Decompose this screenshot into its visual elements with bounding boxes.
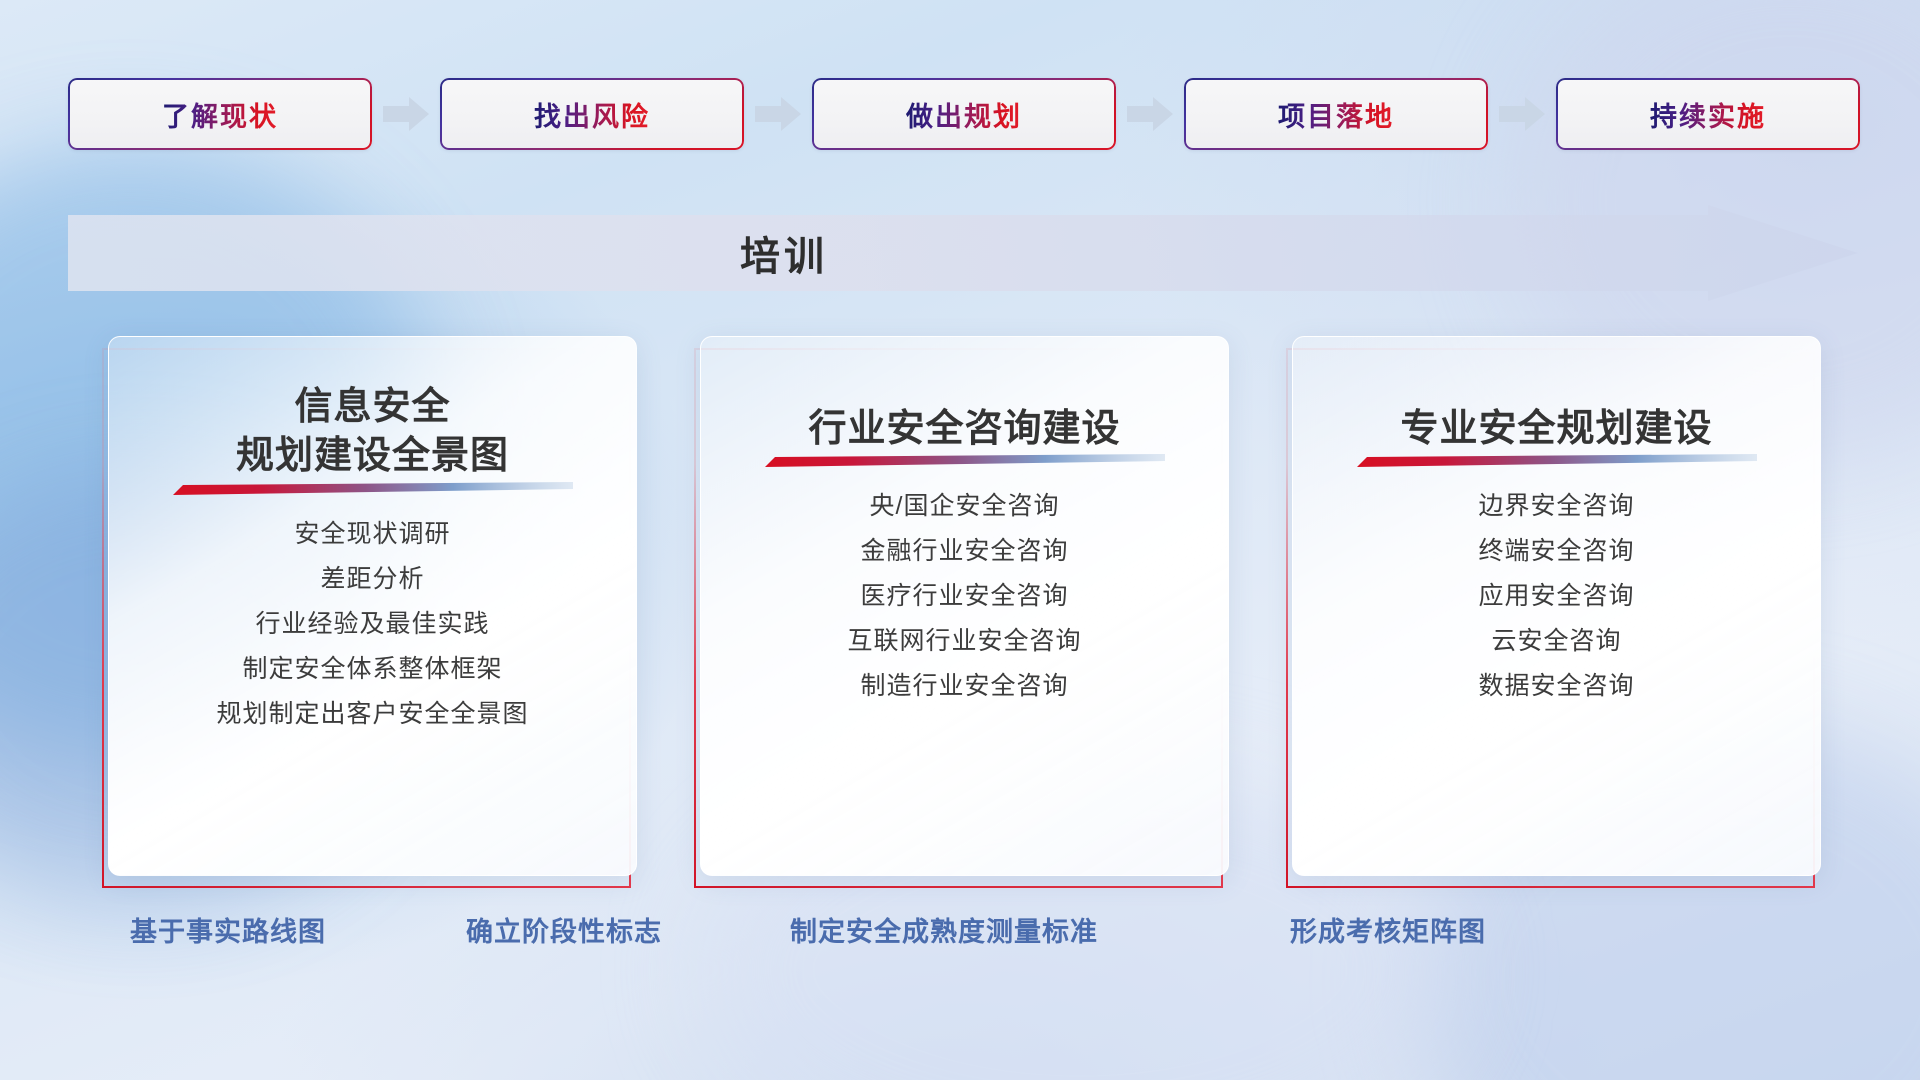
list-item: 制定安全体系整体框架: [139, 647, 606, 692]
list-item: 行业经验及最佳实践: [139, 602, 606, 647]
card-2[interactable]: 行业安全咨询建设: [700, 336, 1229, 876]
card-item-list: 安全现状调研 差距分析 行业经验及最佳实践 制定安全体系整体框架 规划制定出客户…: [139, 498, 606, 741]
card-item-list: 央/国企安全咨询 金融行业安全咨询 医疗行业安全咨询 互联网行业安全咨询 制造行…: [731, 470, 1198, 713]
arrow-right-icon: [744, 94, 812, 134]
card-body: 信息安全 规划建设全景图: [108, 336, 637, 876]
list-item: 数据安全咨询: [1323, 664, 1790, 709]
step-label: 项目落地: [1278, 95, 1394, 134]
caption-row: 基于事实路线图 确立阶段性标志 制定安全成熟度测量标准 形成考核矩阵图: [0, 910, 1920, 966]
list-item: 金融行业安全咨询: [731, 529, 1198, 574]
list-item: 终端安全咨询: [1323, 529, 1790, 574]
arrow-right-icon: [372, 94, 440, 134]
card-row: 信息安全 规划建设全景图: [108, 336, 1820, 876]
step-box-2[interactable]: 找出风险: [440, 78, 744, 150]
arrow-right-icon: [1488, 94, 1556, 134]
step-box-4[interactable]: 项目落地: [1184, 78, 1488, 150]
caption-4: 形成考核矩阵图: [1290, 910, 1486, 949]
list-item: 互联网行业安全咨询: [731, 619, 1198, 664]
step-label: 了解现状: [162, 95, 278, 134]
process-step-row: 了解现状 找出风险 做出规划 项目落地: [68, 78, 1858, 150]
list-item: 边界安全咨询: [1323, 484, 1790, 529]
card-item-list: 边界安全咨询 终端安全咨询 应用安全咨询 云安全咨询 数据安全咨询: [1323, 470, 1790, 713]
list-item: 安全现状调研: [139, 512, 606, 557]
caption-1: 基于事实路线图: [130, 910, 326, 949]
training-label: 培训: [68, 205, 1500, 301]
step-label: 持续实施: [1650, 95, 1766, 134]
card-3[interactable]: 专业安全规划建设: [1292, 336, 1821, 876]
arrow-right-icon: [1116, 94, 1184, 134]
card-title: 专业安全规划建设: [1400, 405, 1712, 454]
slide-canvas: 了解现状 找出风险 做出规划 项目落地: [0, 0, 1920, 1080]
list-item: 医疗行业安全咨询: [731, 574, 1198, 619]
step-box-1[interactable]: 了解现状: [68, 78, 372, 150]
caption-3: 制定安全成熟度测量标准: [790, 910, 1098, 949]
step-label: 找出风险: [534, 95, 650, 134]
card-body: 行业安全咨询建设: [700, 336, 1229, 876]
list-item: 应用安全咨询: [1323, 574, 1790, 619]
list-item: 云安全咨询: [1323, 619, 1790, 664]
list-item: 制造行业安全咨询: [731, 664, 1198, 709]
list-item: 差距分析: [139, 557, 606, 602]
card-title: 信息安全 规划建设全景图: [236, 383, 509, 482]
step-box-3[interactable]: 做出规划: [812, 78, 1116, 150]
list-item: 规划制定出客户安全全景图: [139, 692, 606, 737]
training-banner: 培训: [68, 205, 1858, 301]
step-box-5[interactable]: 持续实施: [1556, 78, 1860, 150]
caption-2: 确立阶段性标志: [466, 910, 662, 949]
step-label: 做出规划: [906, 95, 1022, 134]
card-1[interactable]: 信息安全 规划建设全景图: [108, 336, 637, 876]
card-divider: [1323, 454, 1790, 470]
card-body: 专业安全规划建设: [1292, 336, 1821, 876]
card-divider: [139, 482, 606, 498]
card-title: 行业安全咨询建设: [808, 405, 1120, 454]
list-item: 央/国企安全咨询: [731, 484, 1198, 529]
card-divider: [731, 454, 1198, 470]
